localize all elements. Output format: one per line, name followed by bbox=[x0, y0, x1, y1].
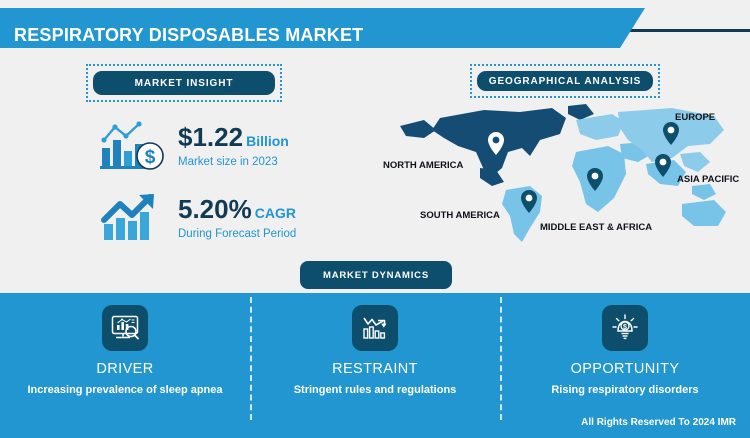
analytics-monitor-search-icon bbox=[109, 312, 141, 344]
restraint-description: Stringent rules and regulations bbox=[288, 384, 463, 396]
stat-market-size-value-row: $1.22Billion bbox=[178, 124, 289, 150]
map-label-south-america: SOUTH AMERICA bbox=[420, 210, 500, 221]
map-region-australia bbox=[682, 200, 726, 226]
stat-market-size-unit: Billion bbox=[246, 133, 289, 149]
page-title: RESPIRATORY DISPOSABLES MARKET bbox=[14, 25, 363, 46]
world-map: NORTH AMERICA SOUTH AMERICA EUROPE ASIA … bbox=[380, 100, 750, 250]
stat-market-size-text: $1.22Billion Market size in 2023 bbox=[178, 124, 289, 169]
growth-arrow-chart-icon bbox=[98, 190, 170, 246]
map-region-central-america bbox=[480, 168, 504, 186]
map-label-middle-east-africa: MIDDLE EAST & AFRICA bbox=[540, 222, 652, 233]
bar-chart-dollar-icon: $ bbox=[98, 118, 170, 174]
restraint-title: RESTRAINT bbox=[332, 361, 418, 377]
footer-credit: All Rights Reserved To 2024 IMR bbox=[581, 417, 736, 428]
geographical-analysis-badge: GEOGRAPHICAL ANALYSIS bbox=[470, 64, 660, 98]
infographic-canvas: RESPIRATORY DISPOSABLES MARKET MARKET IN… bbox=[0, 0, 750, 438]
market-insight-badge: MARKET INSIGHT bbox=[86, 64, 282, 102]
driver-description: Increasing prevalence of sleep apnea bbox=[21, 384, 228, 396]
map-region-alaska bbox=[400, 120, 436, 138]
stat-cagr-caption: During Forecast Period bbox=[178, 229, 296, 241]
opportunity-title: OPPORTUNITY bbox=[571, 361, 680, 377]
header-banner: RESPIRATORY DISPOSABLES MARKET bbox=[0, 8, 750, 48]
map-region-southeast-asia bbox=[692, 184, 716, 200]
stat-cagr-value: 5.20% bbox=[178, 194, 252, 224]
map-label-asia-pacific: ASIA PACIFIC bbox=[677, 174, 739, 185]
lightbulb-dollar-icon: $ bbox=[609, 312, 641, 344]
dynamics-column-restraint: RESTRAINT Stringent rules and regulation… bbox=[250, 293, 500, 438]
stat-market-size-caption: Market size in 2023 bbox=[178, 157, 289, 169]
stat-market-size-value: $1.22 bbox=[178, 122, 243, 152]
svg-text:$: $ bbox=[145, 147, 156, 168]
market-insight-badge-label: MARKET INSIGHT bbox=[93, 71, 275, 95]
map-label-north-america: NORTH AMERICA bbox=[383, 160, 463, 171]
restraint-icon-tile bbox=[352, 305, 398, 351]
dynamics-column-driver: DRIVER Increasing prevalence of sleep ap… bbox=[0, 293, 250, 438]
geographical-analysis-badge-label: GEOGRAPHICAL ANALYSIS bbox=[477, 71, 653, 91]
map-label-europe: EUROPE bbox=[675, 112, 715, 123]
driver-icon-tile bbox=[102, 305, 148, 351]
map-region-greenland bbox=[568, 104, 594, 120]
stat-market-size: $ $1.22Billion Market size in 2023 bbox=[98, 118, 289, 174]
driver-title: DRIVER bbox=[96, 361, 153, 377]
stat-cagr: 5.20%CAGR During Forecast Period bbox=[98, 190, 296, 246]
stat-cagr-value-row: 5.20%CAGR bbox=[178, 196, 296, 222]
market-dynamics-panel: DRIVER Increasing prevalence of sleep ap… bbox=[0, 293, 750, 438]
svg-text:$: $ bbox=[623, 324, 627, 331]
opportunity-description: Rising respiratory disorders bbox=[545, 384, 704, 396]
market-dynamics-badge: MARKET DYNAMICS bbox=[300, 261, 452, 289]
opportunity-icon-tile: $ bbox=[602, 305, 648, 351]
stat-cagr-unit: CAGR bbox=[255, 205, 296, 221]
declining-bar-chart-icon bbox=[359, 312, 391, 344]
map-region-east-asia bbox=[680, 152, 710, 172]
stat-cagr-text: 5.20%CAGR During Forecast Period bbox=[178, 196, 296, 241]
